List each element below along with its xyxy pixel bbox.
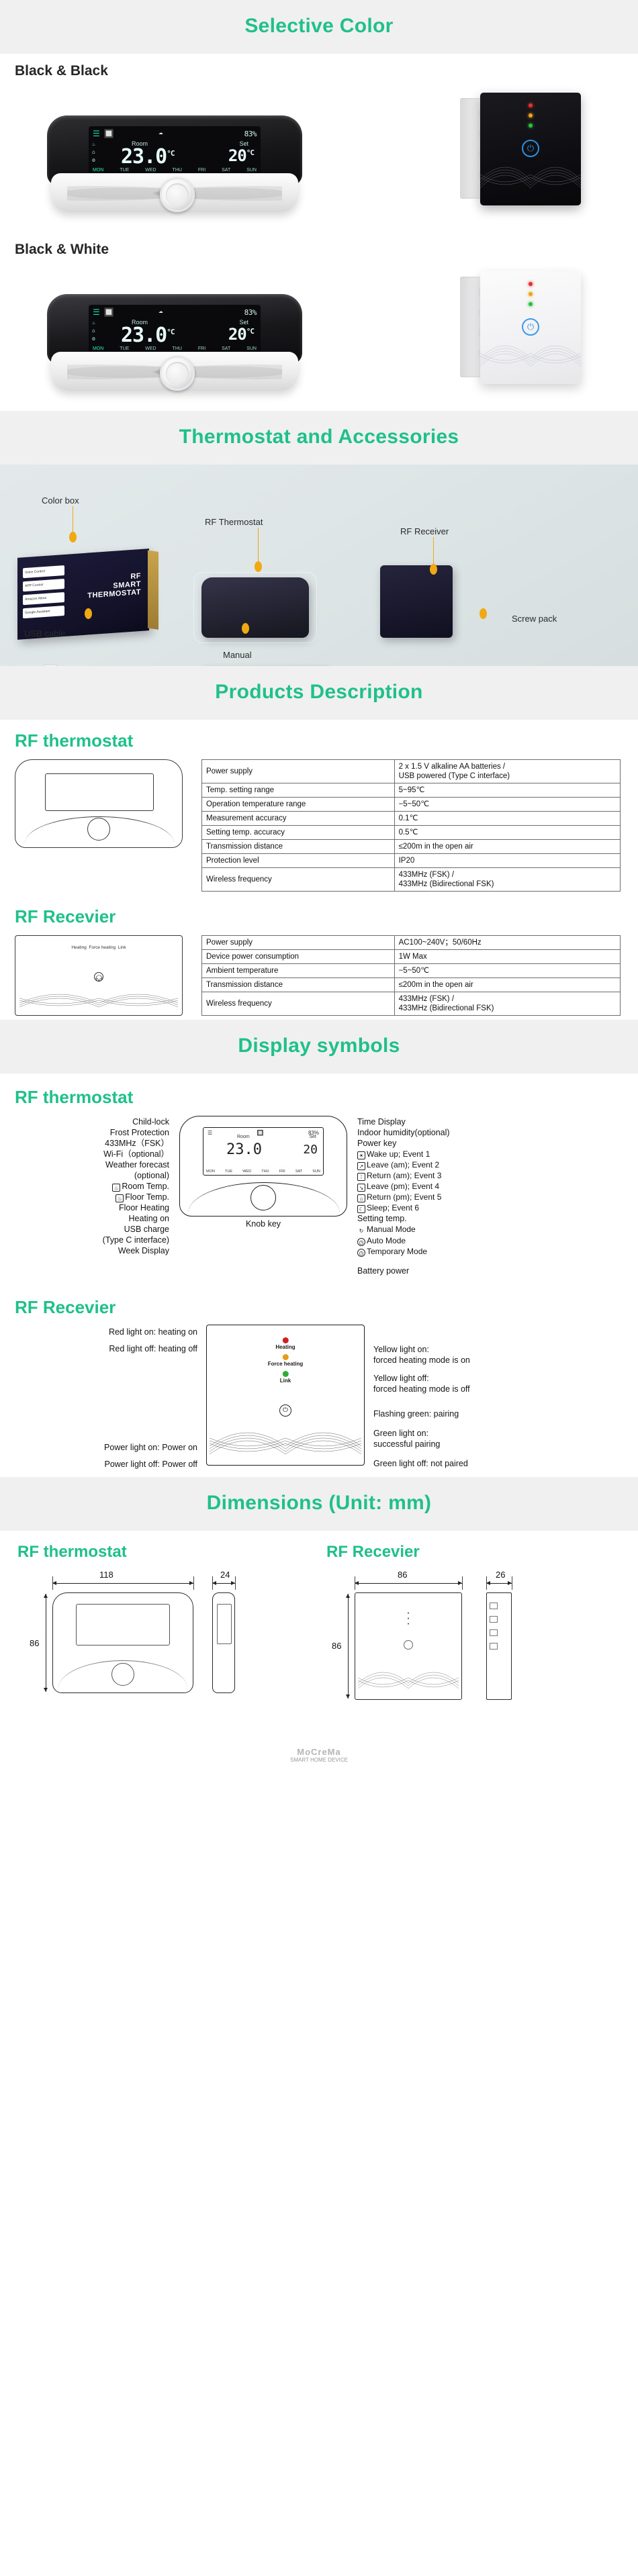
badge-google: Google Assistant (23, 606, 64, 618)
force-heating-led (529, 292, 533, 296)
receiver-leds (529, 282, 533, 306)
dimensions-thermostat: RF thermostat 118 86 24 (13, 1537, 316, 1723)
label-red-light-off: Red light off: heating off (0, 1344, 197, 1354)
symbols-thermostat-title: RF thermostat (15, 1087, 638, 1108)
thermostat-knob[interactable] (160, 177, 195, 212)
temporary-mode-icon: ◷ (357, 1249, 365, 1257)
bluetooth-icon: 🔲 (104, 130, 114, 138)
display-symbols-thermostat: RF thermostat Child-lock Frost Protectio… (0, 1074, 638, 1284)
label-indoor-humidity: Indoor humidity(optional) (357, 1128, 638, 1138)
label-event-6: ☾Sleep; Event 6 (357, 1203, 638, 1213)
receiver-leds (529, 103, 533, 128)
callout-usb-cable: USB cable (24, 628, 65, 638)
receiver-line-drawing: Heating Force heating Link ⎉ (15, 935, 191, 1016)
badge-voice-control: Voice Control (23, 565, 64, 578)
lcd-set-label: Set (309, 1135, 316, 1139)
lcd-side-icons: ♨⌂⚙ (92, 320, 95, 342)
thermostat-line-drawing (15, 759, 191, 848)
label-weather-optional: (optional) (0, 1171, 169, 1181)
label-floor-heating: Floor Heating (0, 1203, 169, 1213)
thermostat-device-white: ☰ 🔲 83% ☁ ♨⌂⚙ Room Set 23.0°C 20°C (47, 294, 302, 395)
section-banner-display-symbols: Display symbols (0, 1020, 638, 1074)
dim-receiver-depth: 26 (496, 1570, 505, 1580)
label-room-temp: ♨Room Temp. (0, 1182, 169, 1192)
label-yellow-light-on: Yellow light on: (373, 1345, 638, 1355)
force-heating-led (282, 1354, 288, 1360)
label-temporary-mode: ◷Temporary Mode (357, 1247, 638, 1257)
lcd-room-unit: °C (167, 328, 174, 336)
label-frost-protection: Frost Protection (0, 1128, 169, 1138)
table-row: Measurement accuracy0.1℃ (202, 812, 621, 826)
section-title: Dimensions (Unit: mm) (0, 1492, 638, 1515)
label-forced-heating-on: forced heating mode is on (373, 1355, 638, 1366)
dim-thermostat-depth: 24 (220, 1570, 230, 1580)
link-led (529, 302, 533, 306)
receiver-wave-pattern (480, 153, 581, 193)
wifi-icon: ☰ (93, 130, 100, 138)
thermostat-symbol-diagram: ☰🔲83% Room Set 23.0 20 MONTUEWEDTHUFRISA… (173, 1112, 353, 1229)
return-pm-icon: ⌂ (357, 1194, 365, 1202)
label-battery-power: Battery power (357, 1266, 638, 1276)
variant-label: Black & White (15, 242, 638, 258)
variant-black-black: Black & Black ☰ 🔲 83% ☁ (0, 63, 638, 232)
section-banner-products-description: Products Description (0, 666, 638, 720)
callout-manual: Manual (223, 650, 252, 660)
table-row: Transmission distance≤200m in the open a… (202, 840, 621, 854)
section-title: Products Description (0, 681, 638, 704)
display-symbols-receiver: RF Recevier Red light on: heating on Red… (0, 1284, 638, 1477)
dimensions-thermostat-title: RF thermostat (17, 1543, 316, 1562)
leave-pm-icon: ↘ (357, 1184, 365, 1192)
thermostat-knob[interactable] (160, 356, 195, 391)
dim-receiver-height: 86 (332, 1641, 341, 1651)
label-time-display: Time Display (357, 1117, 638, 1127)
wifi-icon: ☰ (208, 1130, 212, 1136)
symbols-receiver-title: RF Recevier (15, 1297, 638, 1318)
product-page: Selective Color Black & Black ☰ 🔲 83% (0, 0, 638, 1772)
label-setting-temp: Setting temp. (357, 1214, 638, 1224)
dim-receiver-width: 86 (398, 1570, 407, 1580)
desc-thermostat-title: RF thermostat (15, 730, 638, 751)
wifi-icon: ☰ (93, 308, 100, 316)
manual-mode-icon: ↻ (357, 1227, 365, 1235)
receiver-symbol-labels-right: Yellow light on: forced heating mode is … (369, 1322, 638, 1470)
callout-rf-thermostat: RF Thermostat (205, 517, 263, 527)
lcd-set-temp: 20 (303, 1143, 318, 1157)
label-auto-mode: ◷Auto Mode (357, 1236, 638, 1246)
return-am-icon: ⁞ (357, 1173, 365, 1181)
products-description-receiver: RF Recevier Heating Force heating Link ⎉ (0, 906, 638, 1020)
label-child-lock: Child-lock (0, 1117, 169, 1127)
label-successful-pairing: successful pairing (373, 1439, 638, 1449)
brand-subtitle: SMART HOME DEVICE (0, 1757, 638, 1763)
sleep-icon: ☾ (357, 1205, 365, 1213)
section-title: Selective Color (0, 15, 638, 38)
bluetooth-icon: 🔲 (257, 1130, 264, 1136)
lcd-set-unit: °C (246, 327, 254, 336)
receiver-wave-pattern (480, 332, 581, 372)
section-title: Thermostat and Accessories (0, 426, 638, 448)
table-row: Transmission distance≤200m in the open a… (202, 978, 621, 992)
table-row: Temp. setting range5~95℃ (202, 783, 621, 798)
label-event-5: ⌂Return (pm); Event 5 (357, 1192, 638, 1202)
wake-up-icon: ☀ (357, 1151, 365, 1159)
lcd-room-temp: 23.0 (121, 324, 167, 347)
callout-rf-receiver: RF Receiver (400, 526, 449, 536)
receiver-device-white: ⏻ (460, 267, 588, 395)
weather-icon: ☁ (158, 306, 163, 315)
table-row: Device power consumption1W Max (202, 950, 621, 964)
heating-led (282, 1337, 288, 1343)
thermostat-knob[interactable] (250, 1185, 276, 1210)
section-banner-selective-color: Selective Color (0, 0, 638, 54)
table-row: Wireless frequency433MHz (FSK) / 433MHz … (202, 868, 621, 892)
lcd-room-temp: 23.0 (121, 145, 167, 169)
lcd-set-temp: 20 (228, 325, 246, 344)
receiver-side-outline (486, 1592, 512, 1700)
badge-app-control: APP Control (23, 579, 64, 591)
bluetooth-icon: 🔲 (104, 308, 114, 316)
link-led-label: Link (268, 1378, 303, 1384)
accessory-usb-cable-photo (40, 659, 141, 666)
label-power-light-off: Power light off: Power off (0, 1460, 197, 1470)
lcd-weekdays: MONTUEWEDTHUFRISATSUN (206, 1170, 320, 1174)
lcd-weekdays: MONTUEWEDTHUFRISATSUN (93, 168, 257, 173)
thermostat-device-black: ☰ 🔲 83% ☁ ♨⌂⚙ Room Set 23.0°C 20°C (47, 115, 302, 216)
leave-am-icon: ↗ (357, 1162, 365, 1170)
label-floor-temp: ♨Floor Temp. (0, 1192, 169, 1202)
heating-led-label: Heating (268, 1344, 303, 1350)
color-box-badges: Voice Control APP Control Amazon Alexa G… (23, 565, 64, 618)
section-title: Display symbols (0, 1035, 638, 1057)
label-event-2: ↗Leave (am); Event 2 (357, 1160, 638, 1170)
callout-color-box: Color box (42, 495, 79, 506)
label-manual-mode: ↻Manual Mode (357, 1225, 638, 1235)
label-red-light-on: Red light on: heating on (0, 1327, 197, 1337)
callout-dot (480, 608, 487, 619)
table-row: Wireless frequency433MHz (FSK) / 433MHz … (202, 992, 621, 1016)
label-forced-heating-off: forced heating mode is off (373, 1384, 638, 1394)
thermostat-lcd: ☰ 🔲 83% ☁ ♨⌂⚙ Room Set 23.0°C 20°C (89, 126, 261, 175)
label-week-display: Week Display (0, 1246, 169, 1256)
color-box-product: Voice Control APP Control Amazon Alexa G… (17, 548, 149, 640)
table-row: Setting temp. accuracy0.5℃ (202, 826, 621, 840)
heating-led (529, 103, 533, 107)
callout-screw-pack: Screw pack (512, 614, 557, 624)
knob-key-caption: Knob key (173, 1219, 353, 1229)
force-heating-led-label: Force heating (268, 1361, 303, 1367)
thermostat-side-outline (212, 1592, 235, 1693)
heating-led (529, 282, 533, 286)
accessories-photo: Voice Control APP Control Amazon Alexa G… (0, 465, 638, 666)
label-power-key: Power key (357, 1139, 638, 1149)
dim-thermostat-height: 86 (30, 1638, 39, 1648)
receiver-symbol-labels-left: Red light on: heating on Red light off: … (0, 1322, 201, 1470)
receiver-front-outline: ●●● (355, 1592, 462, 1700)
variant-label: Black & Black (15, 63, 638, 79)
thermometer-icon: ♨ (112, 1184, 120, 1192)
label-yellow-light-off: Yellow light off: (373, 1374, 638, 1384)
variant-black-white: Black & White ☰ 🔲 83% ☁ (0, 242, 638, 411)
color-box-title: RF SMART THERMOSTAT (87, 572, 141, 600)
auto-mode-icon: ◷ (357, 1238, 365, 1246)
thermostat-lcd: ☰ 🔲 83% ☁ ♨⌂⚙ Room Set 23.0°C 20°C (89, 305, 261, 353)
label-event-4: ↘Leave (pm); Event 4 (357, 1182, 638, 1192)
desc-receiver-title: RF Recevier (15, 906, 638, 927)
callout-dot (430, 564, 437, 575)
footer-brand: MoCreMa SMART HOME DEVICE (0, 1743, 638, 1772)
label-event-3: ⁞Return (am); Event 3 (357, 1171, 638, 1181)
lcd-room-temp: 23.0 (226, 1141, 262, 1158)
brand-name: MoCreMa (0, 1747, 638, 1757)
accessory-thermostat-photo (201, 577, 309, 638)
section-banner-dimensions: Dimensions (Unit: mm) (0, 1477, 638, 1531)
label-event-1: ☀Wake up; Event 1 (357, 1149, 638, 1159)
table-row: Operation temperature range−5~50℃ (202, 798, 621, 812)
table-row: Power supplyAC100~240V；50/60Hz (202, 936, 621, 950)
accessory-receiver-photo (380, 565, 453, 638)
link-led (529, 124, 533, 128)
label-power-light-on: Power light on: Power on (0, 1443, 197, 1453)
callout-dot (69, 532, 77, 542)
lcd-weekdays: MONTUEWEDTHUFRISATSUN (93, 346, 257, 351)
thermostat-symbol-labels-right: Time Display Indoor humidity(optional) P… (353, 1112, 638, 1277)
dimensions-content: RF thermostat 118 86 24 (0, 1531, 638, 1743)
lcd-humidity: 83% (244, 130, 257, 138)
label-green-light-off: Green light off: not paired (373, 1459, 638, 1469)
section-banner-accessories: Thermostat and Accessories (0, 411, 638, 465)
lcd-set-unit: °C (246, 148, 254, 157)
receiver-drawing-caption: Heating Force heating Link (58, 945, 139, 951)
receiver-symbol-diagram: Heating Force heating Link ⏻ (201, 1322, 369, 1466)
label-green-light-on: Green light on: (373, 1429, 638, 1439)
products-description-thermostat: RF thermostat Power supply2 x 1.5 V alka… (0, 730, 638, 896)
table-row: Ambient temperature−5~50℃ (202, 964, 621, 978)
dimensions-receiver: RF Recevier 86 ●●● (322, 1537, 625, 1723)
lcd-humidity: 83% (244, 308, 257, 317)
label-wifi: Wi-Fi（optional） (0, 1149, 169, 1159)
label-usb-charge: USB charge (0, 1225, 169, 1235)
dim-thermostat-width: 118 (99, 1570, 113, 1580)
lcd-room-label: Room (237, 1135, 250, 1139)
callout-dot (255, 561, 262, 572)
floor-thermometer-icon: ♨ (116, 1194, 124, 1202)
thermostat-spec-table: Power supply2 x 1.5 V alkaline AA batter… (201, 759, 621, 892)
force-heating-led (529, 113, 533, 117)
table-row: Power supply2 x 1.5 V alkaline AA batter… (202, 760, 621, 783)
badge-alexa: Amazon Alexa (23, 592, 64, 605)
lcd-room-unit: °C (167, 149, 174, 158)
label-weather-forecast: Weather forecast (0, 1160, 169, 1170)
label-flashing-green: Flashing green: pairing (373, 1409, 638, 1419)
label-heating-on: Heating on (0, 1214, 169, 1224)
dimensions-receiver-title: RF Recevier (326, 1543, 625, 1562)
receiver-device-black: ⏻ (460, 89, 588, 216)
callout-dot (85, 608, 92, 619)
weather-icon: ☁ (158, 128, 163, 136)
lcd-set-temp: 20 (228, 146, 246, 165)
thermostat-symbol-labels-left: Child-lock Frost Protection 433MHz（FSK） … (0, 1112, 173, 1257)
callout-line (258, 528, 259, 565)
receiver-spec-table: Power supplyAC100~240V；50/60Hz Device po… (201, 935, 621, 1016)
link-led (282, 1371, 288, 1377)
label-433mhz: 433MHz（FSK） (0, 1139, 169, 1149)
callout-dot (242, 623, 249, 634)
lcd-side-icons: ♨⌂⚙ (92, 141, 95, 163)
label-type-c: (Type C interface) (0, 1235, 169, 1245)
thermostat-front-outline (52, 1592, 193, 1693)
table-row: Protection levelIP20 (202, 854, 621, 868)
